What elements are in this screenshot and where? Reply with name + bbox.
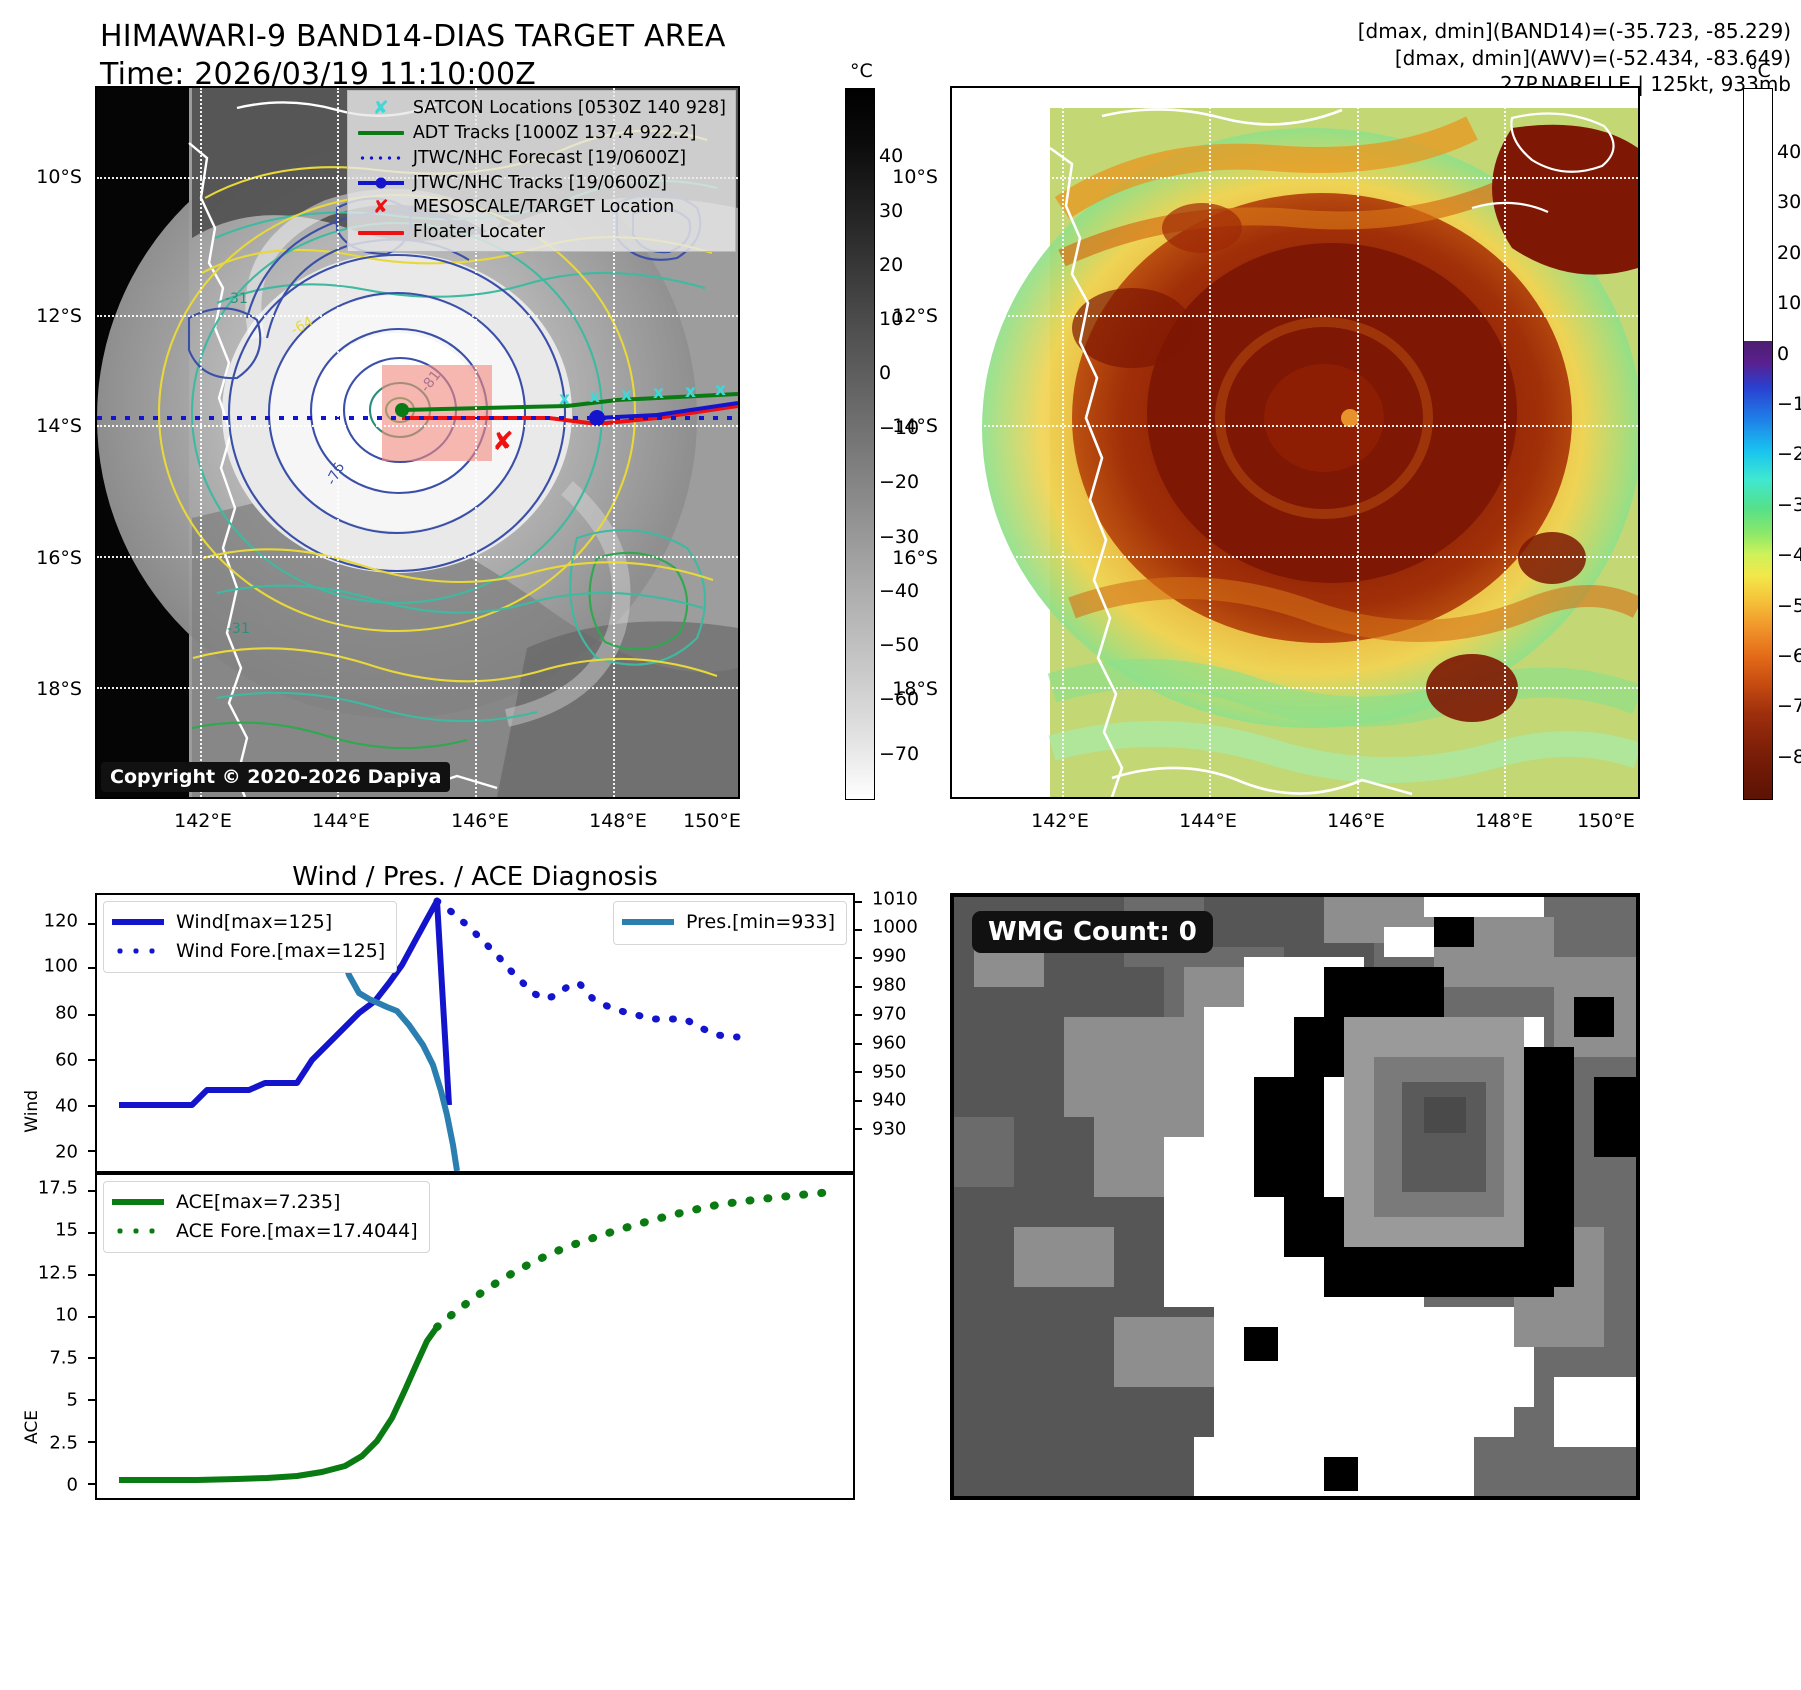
ace-tick xyxy=(88,1232,97,1234)
ytick: 970 xyxy=(872,1003,906,1024)
mesoscale-x-icon: ✘ xyxy=(355,198,407,218)
svg-text:x: x xyxy=(715,380,726,400)
cb-tick: 30 xyxy=(1777,191,1801,213)
band14-map-panel[interactable]: -76 -81 -31 -31 -64 -26 xx xyxy=(95,86,740,799)
pressure-solid-icon xyxy=(622,919,678,925)
wmg-panel[interactable]: WMG Count: 0 xyxy=(950,893,1640,1500)
colorbar-band14[interactable] xyxy=(845,88,875,800)
legend-item-jtwc-forecast[interactable]: JTWC/NHC Forecast [19/0600Z] xyxy=(355,146,726,171)
ytick: 17.5 xyxy=(38,1177,78,1198)
wind-legend[interactable]: Wind[max=125] Wind Fore.[max=125] xyxy=(103,901,397,973)
ytick: 960 xyxy=(872,1032,906,1053)
ace-chart[interactable]: ACE[max=7.235] ACE Fore.[max=17.4044] xyxy=(95,1173,855,1500)
cb-tick: 40 xyxy=(1777,141,1801,163)
colorbar-band14-ticks: 40 30 20 10 0 −10 −20 −30 −40 −50 −60 −7… xyxy=(845,88,846,798)
lon-tick-142e-awv: 142°E xyxy=(1020,810,1100,832)
ace-tick xyxy=(88,1190,97,1192)
wind-pressure-chart[interactable]: Wind[max=125] Wind Fore.[max=125] Pres.[… xyxy=(95,893,855,1173)
lat-tick-14s-awv: 14°S xyxy=(876,415,938,437)
ace-tick xyxy=(88,1441,97,1443)
wmg-count-badge: WMG Count: 0 xyxy=(972,911,1213,953)
ace-tick xyxy=(88,1483,97,1485)
ytick: 120 xyxy=(44,911,78,932)
gridline-lat-12s xyxy=(952,315,1638,317)
ytick: 60 xyxy=(55,1049,78,1070)
cb-tick: −40 xyxy=(879,580,919,602)
adt-line-icon xyxy=(355,123,407,143)
wind-tick xyxy=(88,1014,97,1016)
wind-dotted-icon xyxy=(112,948,168,954)
ace-legend[interactable]: ACE[max=7.235] ACE Fore.[max=17.4044] xyxy=(103,1181,430,1253)
page-title: HIMAWARI-9 BAND14-DIAS TARGET AREA Time:… xyxy=(100,18,900,95)
mesoscale-marker: ✘ xyxy=(492,427,514,457)
dmax-dmin-band14: [dmax, dmin](BAND14)=(-35.723, -85.229) xyxy=(1358,18,1791,45)
gridline-lon-148 xyxy=(1504,88,1506,797)
colorbar-unit-awv: °C xyxy=(1748,60,1771,82)
pressure-tick xyxy=(853,1071,862,1073)
legend-item-ace[interactable]: ACE[max=7.235] xyxy=(112,1188,418,1217)
legend-item-mesoscale[interactable]: ✘ MESOSCALE/TARGET Location xyxy=(355,195,726,220)
ace-tick xyxy=(88,1316,97,1318)
pressure-tick xyxy=(853,929,862,931)
cb-tick: 40 xyxy=(879,145,903,167)
gridline-lat-16s xyxy=(97,556,738,558)
legend-label: Wind[max=125] xyxy=(176,908,332,937)
ace-tick xyxy=(88,1274,97,1276)
lon-tick-146e: 146°E xyxy=(440,810,520,832)
lat-tick-14s: 14°S xyxy=(20,415,82,437)
wind-axis-title: Wind xyxy=(22,1090,42,1133)
gridline-lat-14s xyxy=(97,425,738,427)
cb-tick: −50 xyxy=(879,634,919,656)
lon-tick-148e-awv: 148°E xyxy=(1464,810,1544,832)
legend-label: JTWC/NHC Tracks [19/0600Z] xyxy=(413,171,667,196)
gridline-lon-142 xyxy=(200,88,202,797)
wind-axis-labels: 120 100 80 60 40 20 xyxy=(0,893,84,1173)
ytick: 100 xyxy=(44,955,78,976)
lat-tick-10s: 10°S xyxy=(20,166,82,188)
svg-text:-31: -31 xyxy=(225,291,248,307)
legend-label: SATCON Locations [0530Z 140 928] xyxy=(413,96,726,121)
ytick: 20 xyxy=(55,1142,78,1163)
lat-tick-10s-awv: 10°S xyxy=(876,166,938,188)
title-line-1: HIMAWARI-9 BAND14-DIAS TARGET AREA xyxy=(100,18,900,56)
gridline-lat-10s xyxy=(952,177,1638,179)
legend-item-wind[interactable]: Wind[max=125] xyxy=(112,908,385,937)
cb-tick: −40 xyxy=(1777,544,1801,566)
ace-tick xyxy=(88,1357,97,1359)
cb-tick: −80 xyxy=(1777,746,1801,768)
gridline-lat-12s xyxy=(97,315,738,317)
gridline-lon-142 xyxy=(1062,88,1064,797)
legend-label: MESOSCALE/TARGET Location xyxy=(413,195,674,220)
ytick: 15 xyxy=(55,1220,78,1241)
ytick: 10 xyxy=(55,1305,78,1326)
diagnosis-subtitle: Wind / Pres. / ACE Diagnosis xyxy=(95,862,855,892)
track-line-dot-icon xyxy=(355,173,407,193)
svg-text:x: x xyxy=(589,387,600,407)
lon-tick-146e-awv: 146°E xyxy=(1316,810,1396,832)
lat-tick-16s: 16°S xyxy=(20,547,82,569)
colorbar-awv[interactable] xyxy=(1743,88,1773,800)
gridline-lon-146 xyxy=(1357,88,1359,797)
legend-item-pressure[interactable]: Pres.[min=933] xyxy=(622,908,835,937)
legend-label: ACE[max=7.235] xyxy=(176,1188,340,1217)
awv-image xyxy=(952,88,1638,797)
svg-text:x: x xyxy=(621,385,632,405)
pressure-tick xyxy=(853,1128,862,1130)
cb-tick: −50 xyxy=(1777,595,1801,617)
lat-tick-16s-awv: 16°S xyxy=(876,547,938,569)
ace-tick xyxy=(88,1399,97,1401)
cb-tick: −20 xyxy=(1777,443,1801,465)
lon-tick-144e: 144°E xyxy=(301,810,381,832)
gridline-lat-18s xyxy=(952,687,1638,689)
map-legend[interactable]: ✘ SATCON Locations [0530Z 140 928] ADT T… xyxy=(347,90,736,252)
ace-dotted-icon xyxy=(112,1228,168,1234)
gridline-lon-144 xyxy=(1209,88,1211,797)
legend-label: Wind Fore.[max=125] xyxy=(176,937,385,966)
svg-text:x: x xyxy=(559,389,570,409)
ytick: 1000 xyxy=(872,917,918,938)
wind-tick xyxy=(88,1059,97,1061)
pressure-tick xyxy=(853,1014,862,1016)
svg-text:x: x xyxy=(653,383,664,403)
cb-tick: −60 xyxy=(1777,645,1801,667)
wind-tick xyxy=(88,923,97,925)
lon-tick-148e: 148°E xyxy=(578,810,658,832)
ytick: 950 xyxy=(872,1061,906,1082)
legend-label: JTWC/NHC Forecast [19/0600Z] xyxy=(413,146,686,171)
lon-tick-150e-awv: 150°E xyxy=(1566,810,1646,832)
legend-label: ADT Tracks [1000Z 137.4 922.2] xyxy=(413,121,697,146)
ytick: 940 xyxy=(872,1090,906,1111)
cb-tick: −30 xyxy=(879,526,919,548)
colorbar-awv-ticks: 40 30 20 10 0 −10 −20 −30 −40 −50 −60 −7… xyxy=(1743,88,1744,798)
svg-text:x: x xyxy=(685,382,696,402)
ytick: 990 xyxy=(872,946,906,967)
pressure-axis-labels: 1010 1000 990 980 970 960 950 940 930 xyxy=(866,893,956,1173)
ace-forecast-line xyxy=(437,1192,833,1327)
ytick: 2.5 xyxy=(49,1432,78,1453)
colorbar-unit-band14: °C xyxy=(850,60,873,82)
cb-tick: −30 xyxy=(1777,494,1801,516)
legend-item-wind-forecast[interactable]: Wind Fore.[max=125] xyxy=(112,937,385,966)
lat-tick-18s-awv: 18°S xyxy=(876,678,938,700)
copyright-notice: Copyright © 2020-2026 Dapiya xyxy=(101,762,450,792)
wind-tick xyxy=(88,1105,97,1107)
ytick: 1010 xyxy=(872,888,918,909)
ace-solid-icon xyxy=(112,1199,168,1205)
gridline-lon-144 xyxy=(337,88,339,797)
legend-item-jtwc-tracks[interactable]: JTWC/NHC Tracks [19/0600Z] xyxy=(355,171,726,196)
ytick: 980 xyxy=(872,975,906,996)
legend-label: Pres.[min=933] xyxy=(686,908,835,937)
legend-item-adt[interactable]: ADT Tracks [1000Z 137.4 922.2] xyxy=(355,121,726,146)
cb-tick: 10 xyxy=(1777,292,1801,314)
wind-solid-icon xyxy=(112,919,168,925)
floater-line-icon xyxy=(355,223,407,243)
gridline-lat-18s xyxy=(97,687,738,689)
lon-tick-144e-awv: 144°E xyxy=(1168,810,1248,832)
forecast-dotted-icon xyxy=(355,148,407,168)
legend-item-satcon[interactable]: ✘ SATCON Locations [0530Z 140 928] xyxy=(355,96,726,121)
ace-observed-line xyxy=(119,1327,437,1480)
lat-tick-12s: 12°S xyxy=(20,305,82,327)
svg-text:-31: -31 xyxy=(227,621,250,637)
ytick: 930 xyxy=(872,1119,906,1140)
cb-tick: 20 xyxy=(1777,242,1801,264)
cb-tick: −20 xyxy=(879,471,919,493)
pressure-tick xyxy=(853,1100,862,1102)
ytick: 40 xyxy=(55,1095,78,1116)
lat-tick-12s-awv: 12°S xyxy=(876,305,938,327)
awv-map-panel[interactable] xyxy=(950,86,1640,799)
ace-axis-labels: 17.5 15 12.5 10 7.5 5 2.5 0 xyxy=(0,1173,84,1500)
ace-axis-title: ACE xyxy=(22,1410,42,1444)
cb-tick: 30 xyxy=(879,200,903,222)
legend-label: ACE Fore.[max=17.4044] xyxy=(176,1217,418,1246)
cb-tick: −10 xyxy=(1777,393,1801,415)
cb-tick: −70 xyxy=(879,743,919,765)
pressure-tick xyxy=(853,986,862,988)
gridline-lat-16s xyxy=(952,556,1638,558)
ytick: 12.5 xyxy=(38,1262,78,1283)
wind-tick xyxy=(88,967,97,969)
dmax-dmin-awv: [dmax, dmin](AWV)=(-52.434, -83.649) xyxy=(1358,45,1791,72)
wmg-image xyxy=(954,897,1636,1496)
satcon-x-icon: ✘ xyxy=(355,98,407,118)
ytick: 7.5 xyxy=(49,1347,78,1368)
gridline-lat-14s xyxy=(952,425,1638,427)
wind-tick xyxy=(88,1150,97,1152)
legend-item-floater[interactable]: Floater Locater xyxy=(355,220,726,245)
ytick: 80 xyxy=(55,1003,78,1024)
lon-tick-150e: 150°E xyxy=(672,810,752,832)
cb-tick: 0 xyxy=(1777,343,1789,365)
pressure-legend[interactable]: Pres.[min=933] xyxy=(613,901,847,945)
lon-tick-142e: 142°E xyxy=(163,810,243,832)
ytick: 5 xyxy=(67,1390,78,1411)
pressure-tick xyxy=(853,1043,862,1045)
lat-tick-18s: 18°S xyxy=(20,678,82,700)
pressure-tick xyxy=(853,901,862,903)
cb-tick: −70 xyxy=(1777,695,1801,717)
legend-item-ace-forecast[interactable]: ACE Fore.[max=17.4044] xyxy=(112,1217,418,1246)
legend-label: Floater Locater xyxy=(413,220,545,245)
pressure-tick xyxy=(853,957,862,959)
ytick: 0 xyxy=(67,1475,78,1496)
cb-tick: 20 xyxy=(879,254,903,276)
cb-tick: 0 xyxy=(879,362,891,384)
